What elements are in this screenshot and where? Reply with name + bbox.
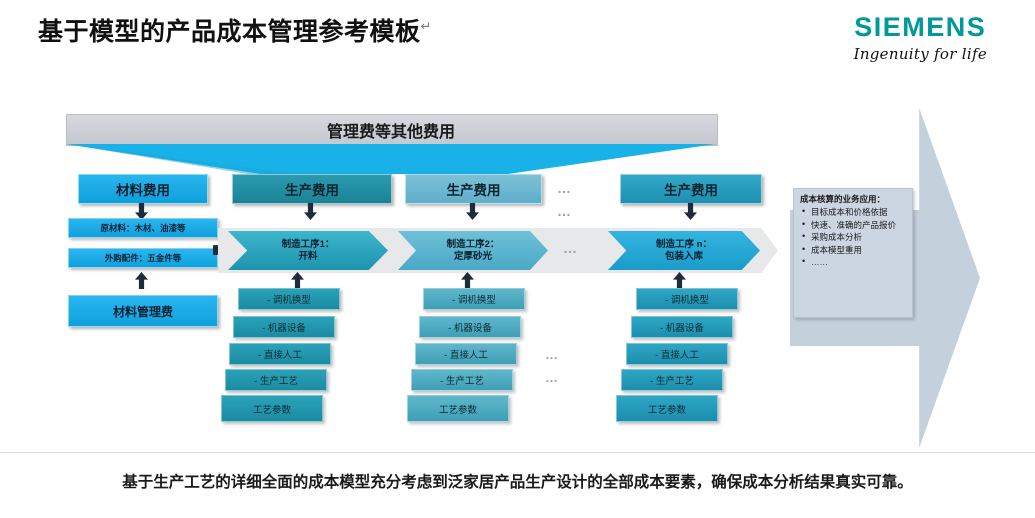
cost-box-production-n[interactable]: 生产费用 (620, 174, 762, 204)
stack-item[interactable]: - 生产工艺 (411, 369, 513, 391)
stack-item[interactable]: - 机器设备 (233, 316, 335, 338)
stack-item[interactable]: - 直接人工 (229, 343, 331, 365)
overhead-label: 管理费等其他费用 (66, 118, 716, 142)
stack-item[interactable]: 工艺参数 (616, 395, 718, 422)
down-arrow-icon (684, 203, 697, 220)
material-input-raw[interactable]: 原材料：木材、油漆等 (68, 218, 218, 238)
up-arrow-icon (291, 272, 304, 289)
material-management-fee-box[interactable]: 材料管理费 (68, 295, 218, 327)
process-step-2-line1: 制造工序2： (447, 239, 500, 251)
stack-item[interactable]: - 调机换型 (423, 288, 525, 310)
material-input-parts[interactable]: 外购配件：五金件等 (68, 248, 218, 268)
stack-item[interactable]: - 生产工艺 (621, 369, 723, 391)
process-ellipsis: … (563, 240, 578, 256)
slide-canvas: 基于模型的产品成本管理参考模板↵ SIEMENS Ingenuity for l… (0, 0, 1035, 518)
down-arrow-icon (466, 203, 479, 220)
page-title-text: 基于模型的产品成本管理参考模板 (38, 18, 421, 46)
stack-item[interactable]: - 直接人工 (626, 343, 728, 365)
stack-item[interactable]: 工艺参数 (221, 395, 323, 422)
process-step-n-line2: 包装入库 (665, 251, 703, 263)
page-title: 基于模型的产品成本管理参考模板↵ (38, 12, 432, 48)
stack-item[interactable]: - 生产工艺 (225, 369, 327, 391)
paragraph-mark: ↵ (421, 19, 432, 34)
callout-item: 成本模型重用 (800, 244, 912, 257)
stack-ellipsis-2: … (545, 370, 559, 385)
siemens-wordmark: SIEMENS (854, 14, 987, 41)
up-arrow-icon (461, 272, 474, 289)
callout-item: 采购成本分析 (800, 231, 912, 244)
process-step-2[interactable]: 制造工序2： 定厚砂光 (398, 231, 548, 270)
process-step-n-line1: 制造工序 n： (656, 239, 712, 251)
stack-ellipsis-1: … (545, 347, 559, 362)
cost-box-material[interactable]: 材料费用 (78, 174, 208, 204)
footer-divider (0, 452, 1035, 453)
process-step-1[interactable]: 制造工序1： 开料 (228, 231, 388, 270)
siemens-tagline: Ingenuity for life (854, 45, 987, 63)
callout-item: …… (800, 256, 912, 269)
callout-list: 目标成本和价格依据 快速、准确的产品报价 采购成本分析 成本模型重用 …… (800, 206, 912, 269)
callout-title: 成本核算的业务应用： (800, 193, 912, 205)
cost-box-production-1[interactable]: 生产费用 (232, 174, 392, 204)
process-step-n[interactable]: 制造工序 n： 包装入库 (608, 231, 760, 270)
callout-item: 快速、准确的产品报价 (800, 219, 912, 232)
stack-item[interactable]: - 调机换型 (636, 288, 738, 310)
process-step-1-line1: 制造工序1： (282, 239, 335, 251)
siemens-logo: SIEMENS Ingenuity for life (854, 14, 987, 63)
cost-box-ellipsis-top: … (557, 180, 572, 196)
stack-item[interactable]: - 机器设备 (631, 316, 733, 338)
up-arrow-icon (673, 272, 686, 289)
up-arrow-icon (135, 272, 148, 289)
process-step-2-line2: 定厚砂光 (454, 251, 492, 263)
stack-item[interactable]: - 直接人工 (415, 343, 517, 365)
callout-item: 目标成本和价格依据 (800, 206, 912, 219)
process-step-1-line2: 开料 (298, 251, 317, 263)
stack-item[interactable]: 工艺参数 (407, 395, 509, 422)
stack-item[interactable]: - 调机换型 (238, 288, 340, 310)
stack-item[interactable]: - 机器设备 (419, 316, 521, 338)
cost-box-ellipsis-bottom: … (557, 203, 572, 219)
footer-caption: 基于生产工艺的详细全面的成本模型充分考虑到泛家居产品生产设计的全部成本要素，确保… (0, 470, 1035, 492)
down-arrow-icon (304, 203, 317, 220)
cost-box-production-2[interactable]: 生产费用 (405, 174, 542, 204)
